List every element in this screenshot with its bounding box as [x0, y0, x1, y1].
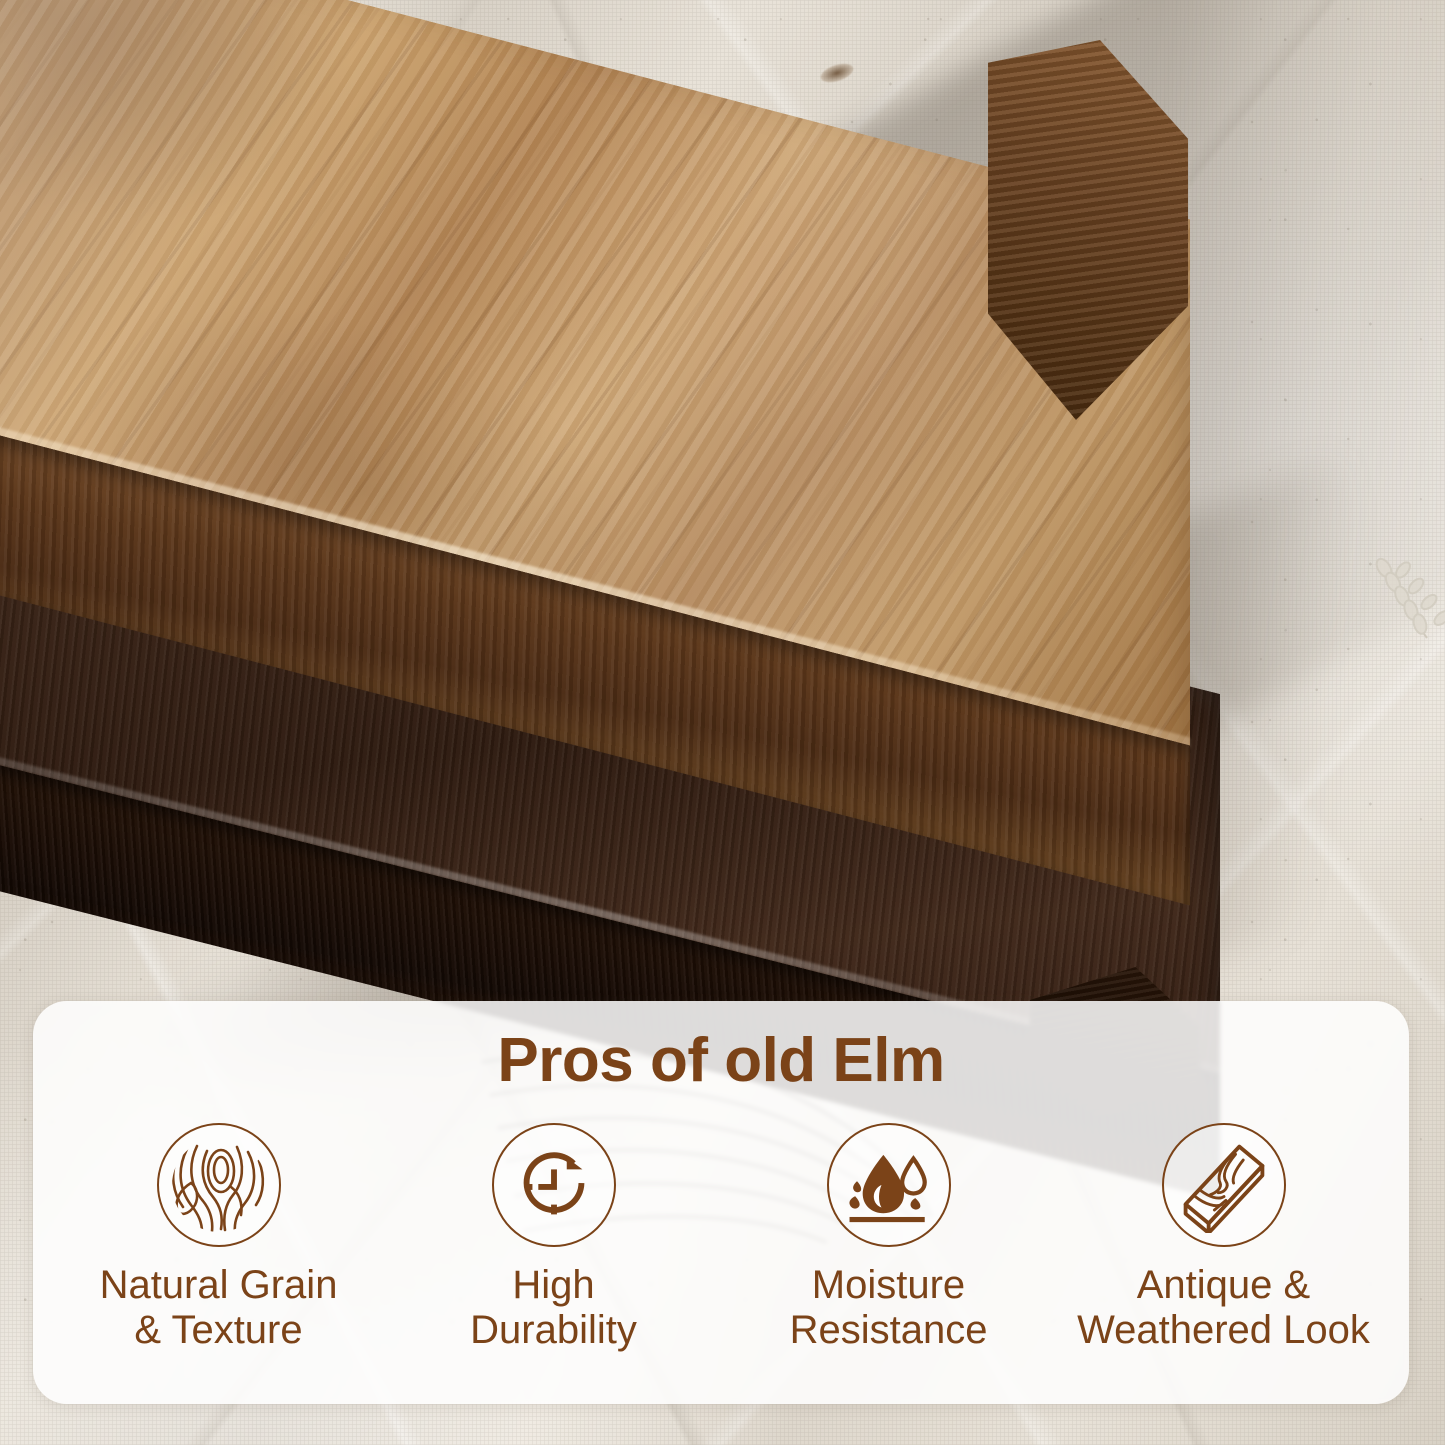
feature-antique-look: Antique & Weathered Look: [1056, 1123, 1391, 1353]
feature-label: Moisture Resistance: [790, 1263, 988, 1353]
feature-moisture-resistance: Moisture Resistance: [721, 1123, 1056, 1353]
card-title: Pros of old Elm: [33, 1025, 1409, 1096]
clock-refresh-icon: [492, 1123, 616, 1247]
feature-high-durability: High Durability: [386, 1123, 721, 1353]
pros-info-card: Pros of old Elm: [33, 1001, 1409, 1404]
wood-plank-icon: [1162, 1123, 1286, 1247]
light-board-knot: [818, 60, 855, 86]
natural-elm-board: [0, 0, 1230, 760]
feature-list: Natural Grain & Texture High Du: [51, 1123, 1391, 1353]
dried-sprig-icon: [1331, 512, 1445, 642]
feature-label: Natural Grain & Texture: [100, 1263, 338, 1353]
feature-natural-grain: Natural Grain & Texture: [51, 1123, 386, 1353]
feature-label: High Durability: [470, 1263, 637, 1353]
water-droplet-icon: [827, 1123, 951, 1247]
feature-label: Antique & Weathered Look: [1077, 1263, 1370, 1353]
product-marketing-image: Pros of old Elm: [0, 0, 1445, 1445]
wood-grain-circle-icon: [157, 1123, 281, 1247]
